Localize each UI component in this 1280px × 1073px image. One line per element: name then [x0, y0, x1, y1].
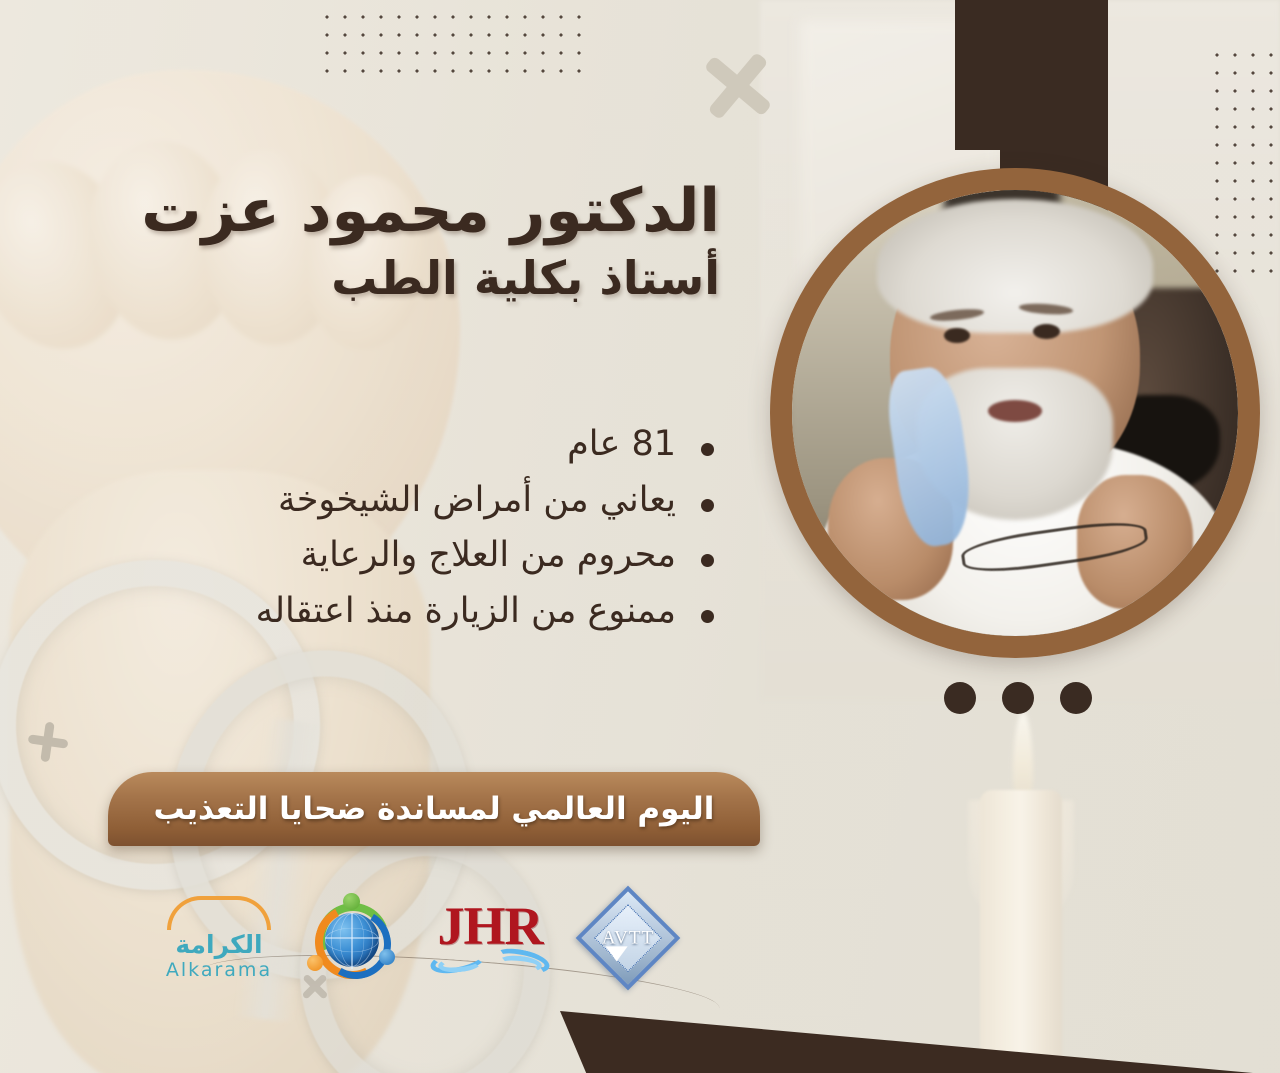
portrait-photo	[792, 190, 1238, 636]
top-dark-bar-secondary	[955, 0, 1003, 150]
dot-grid-right	[1208, 46, 1280, 282]
portrait-frame	[770, 168, 1260, 658]
list-item: محروم من العلاج والرعاية	[60, 531, 720, 581]
jhr-wordmark: JHR	[438, 901, 543, 952]
globe-icon	[309, 895, 395, 981]
globe-blue-dot	[379, 949, 395, 965]
avtt-triangle-icon	[606, 946, 628, 961]
headline-block: الدكتور محمود عزت أستاذ بكلية الطب	[60, 178, 720, 306]
avtt-logo: AVTT	[580, 883, 676, 993]
page-title: الدكتور محمود عزت	[60, 178, 720, 245]
list-item: ممنوع من الزيارة منذ اعتقاله	[60, 587, 720, 637]
campaign-ribbon: اليوم العالمي لمساندة ضحايا التعذيب	[108, 772, 760, 846]
dot-1	[1060, 682, 1092, 714]
jhr-logo: JHR	[426, 883, 554, 993]
alkarama-arc-icon	[167, 896, 271, 930]
three-dots-decoration	[944, 682, 1092, 714]
list-item: يعاني من أمراض الشيخوخة	[60, 476, 720, 526]
avtt-wordmark: AVTT	[591, 906, 665, 980]
list-item: 81 عام	[60, 420, 720, 470]
alkarama-arabic-label: الكرامة	[175, 932, 262, 957]
poster-canvas: الدكتور محمود عزت أستاذ بكلية الطب 81 عا…	[0, 0, 1280, 1073]
detail-list: 81 عام يعاني من أمراض الشيخوخة محروم من …	[60, 420, 720, 643]
avtt-diamond-icon: AVTT	[576, 885, 681, 990]
photo-hair	[877, 199, 1154, 333]
dot-3	[944, 682, 976, 714]
plus-icon-small	[25, 719, 70, 764]
alkarama-latin-label: Alkarama	[166, 961, 272, 980]
alkarama-logo: الكرامة Alkarama	[160, 883, 278, 993]
dot-2	[1002, 682, 1034, 714]
globe-orange-dot	[307, 955, 323, 971]
logo-row: الكرامة Alkarama JHR	[160, 880, 690, 995]
globe-logo	[304, 883, 400, 993]
dot-grid-top	[318, 8, 586, 80]
jhr-laurel-icon	[428, 948, 552, 974]
campaign-ribbon-label: اليوم العالمي لمساندة ضحايا التعذيب	[154, 791, 715, 827]
photo-mouth	[988, 400, 1042, 422]
page-subtitle: أستاذ بكلية الطب	[60, 251, 720, 306]
globe-green-dot	[343, 893, 360, 910]
globe-meridian-3	[331, 913, 373, 967]
photo-eye-right	[1033, 324, 1060, 339]
